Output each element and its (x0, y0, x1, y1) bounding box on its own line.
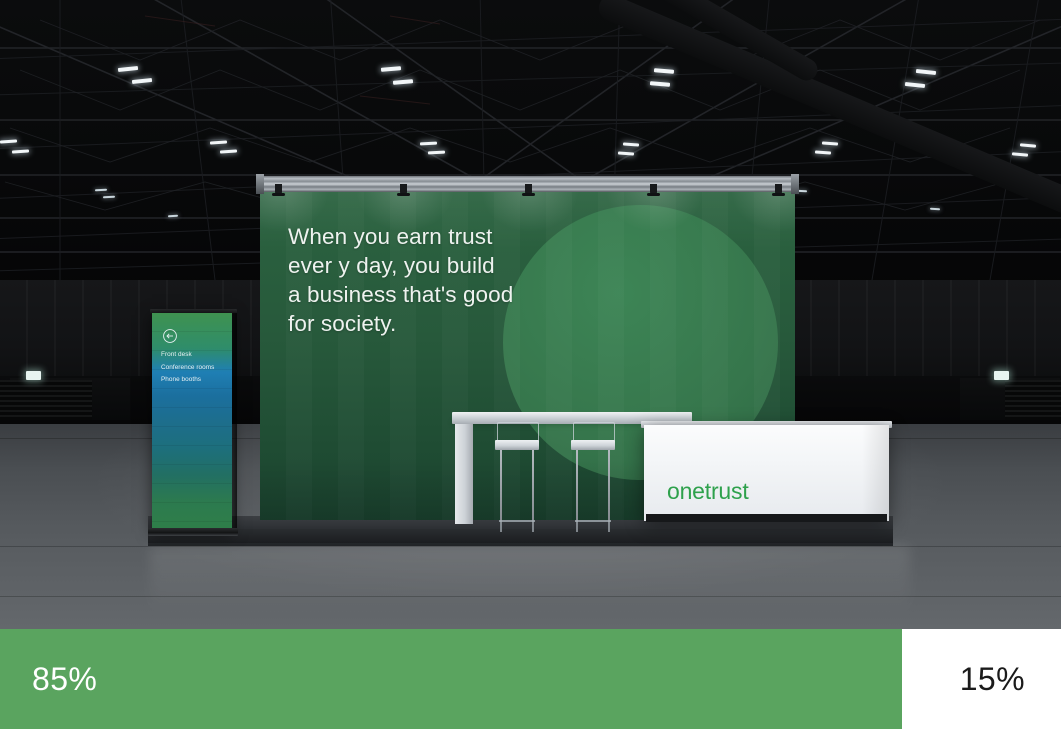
banner-side-shadow (232, 313, 237, 532)
split-bar-segment-right[interactable]: 15% (902, 629, 1061, 729)
banner-link-item: Phone booths (161, 374, 231, 387)
hall-shutter-left (0, 380, 92, 420)
split-bar-left-label: 85% (32, 663, 97, 695)
banner-link-item: Front desk (161, 349, 231, 362)
truss-spotlight (400, 184, 407, 195)
onetrust-logo: onetrust (667, 478, 749, 505)
exit-sign-right-icon (994, 371, 1009, 380)
backwall-headline: When you earn trust ever y day, you buil… (288, 222, 558, 338)
bar-stool (571, 422, 617, 534)
truss-spotlight (775, 184, 782, 195)
screenshot-root: When you earn trust ever y day, you buil… (0, 0, 1061, 729)
truss-spotlight (650, 184, 657, 195)
truss-spotlight (525, 184, 532, 195)
floor-seam (0, 546, 1061, 547)
stool-back (573, 422, 615, 442)
banner-print-bands (152, 313, 232, 532)
desk-edge-shading (862, 425, 889, 521)
stool-seat (571, 440, 615, 450)
truss-cap-right (791, 174, 799, 194)
stool-footrest (499, 520, 535, 522)
truss-cap-left (256, 174, 264, 194)
banner-link-list: Front desk Conference rooms Phone booths (161, 349, 231, 387)
truss-spotlight (275, 184, 282, 195)
banner-base (148, 528, 238, 536)
bar-stool (495, 422, 541, 534)
wayfinding-banner: Front desk Conference rooms Phone booths (152, 313, 232, 532)
split-bar-right-label: 15% (960, 663, 1025, 695)
split-bar-segment-left[interactable]: 85% (0, 629, 902, 729)
stool-footrest (575, 520, 611, 522)
booth-photo: When you earn trust ever y day, you buil… (0, 0, 1061, 629)
hall-shutter-right (1005, 380, 1061, 420)
percentage-split-bar: 85% 15% (0, 629, 1061, 729)
floor-seam (0, 596, 1061, 597)
circle-arrow-left-icon (162, 328, 178, 344)
stool-back (497, 422, 539, 442)
reception-desk-kickplate (646, 514, 887, 522)
exit-sign-left-icon (26, 371, 41, 380)
stool-seat (495, 440, 539, 450)
bar-table-leg (455, 424, 473, 524)
reception-desk (644, 425, 889, 521)
banner-link-item: Conference rooms (161, 362, 231, 375)
